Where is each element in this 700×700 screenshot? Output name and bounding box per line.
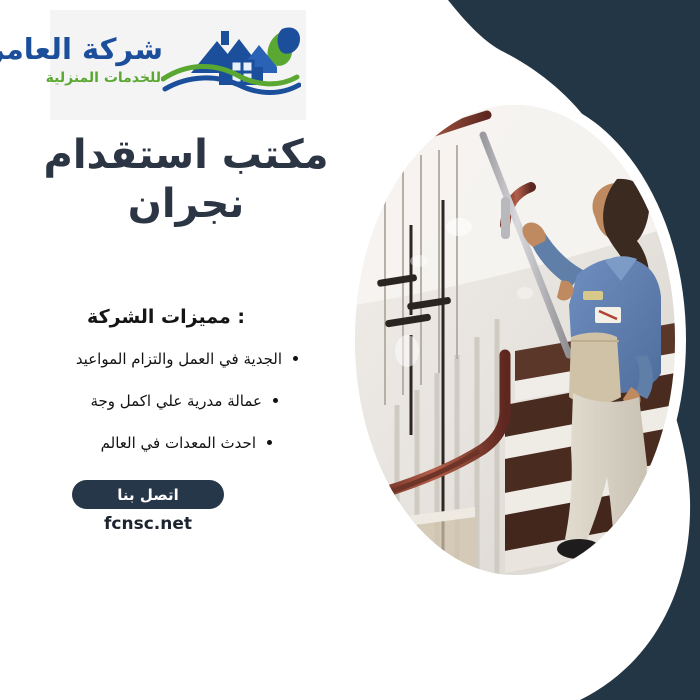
house-with-leaves-icon xyxy=(161,23,301,107)
list-item: الجدية في العمل والتزام المواعيد xyxy=(70,348,300,369)
page-title-line1: مكتب استقدام xyxy=(44,132,329,178)
bullet-icon xyxy=(267,440,272,445)
features-list: الجدية في العمل والتزام المواعيد عمالة م… xyxy=(70,348,300,474)
bullet-icon xyxy=(293,356,298,361)
housekeeper-cleaning-stair-railing-photo xyxy=(355,105,675,575)
bullet-icon xyxy=(273,398,278,403)
list-item-label: احدث المعدات في العالم xyxy=(101,434,256,452)
list-item: احدث المعدات في العالم xyxy=(70,432,300,453)
company-logo: شركة العامر للخدمات المنزلية xyxy=(50,10,306,120)
poster-canvas: شركة العامر للخدمات المنزلية xyxy=(0,0,700,700)
list-item-label: عمالة مدرية علي اكمل وجة xyxy=(90,392,262,410)
list-item: عمالة مدرية علي اكمل وجة xyxy=(70,390,300,411)
logo-company-name: شركة العامر xyxy=(0,35,163,64)
page-title-line2: نجران xyxy=(36,180,336,229)
contact-us-button[interactable]: اتصل بنا xyxy=(72,480,224,509)
hero-photo-frame xyxy=(355,105,675,575)
right-artwork xyxy=(330,0,700,700)
features-heading: : مميزات الشركة xyxy=(46,306,286,328)
page-title: مكتب استقدام نجران xyxy=(36,131,336,229)
website-url[interactable]: fcnsc.net xyxy=(46,514,250,534)
list-item-label: الجدية في العمل والتزام المواعيد xyxy=(76,350,282,368)
logo-tagline: للخدمات المنزلية xyxy=(46,71,161,85)
